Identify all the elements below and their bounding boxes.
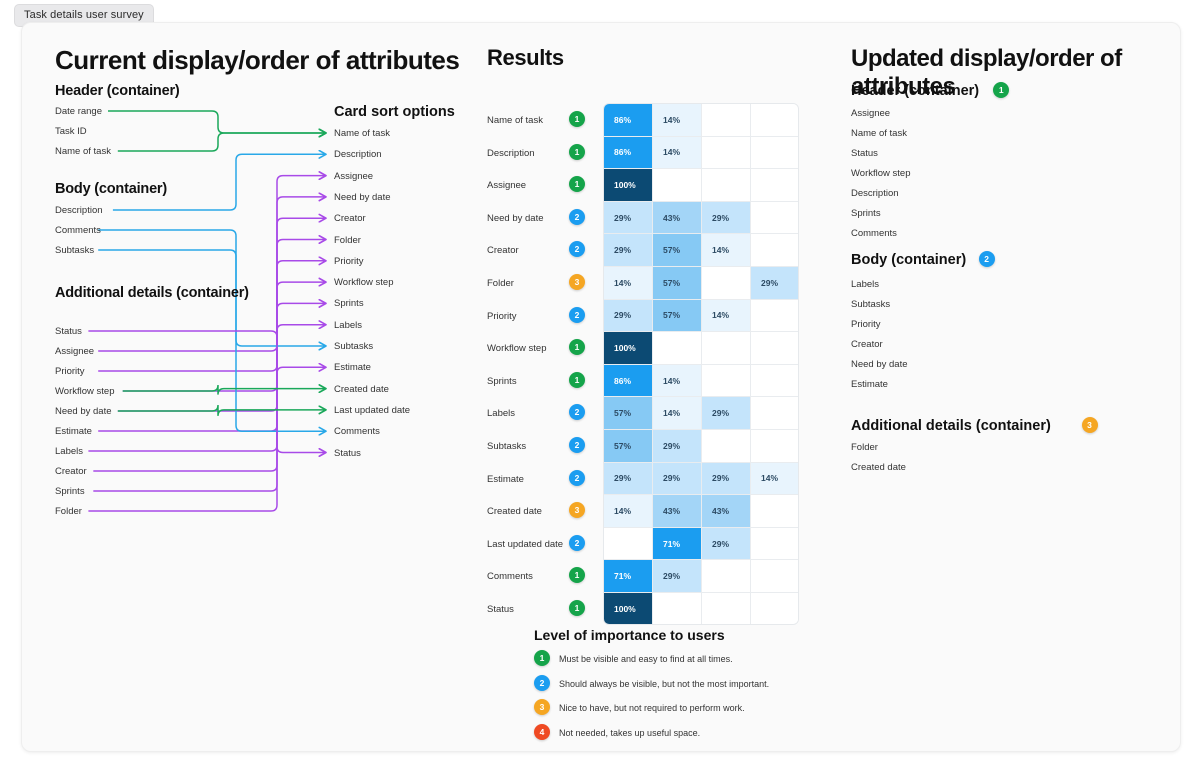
updated-group-badge: 3 [1082, 417, 1098, 433]
card-sort-option: Labels [334, 320, 362, 331]
heatmap-cell: 57% [653, 234, 702, 267]
heatmap-cell [751, 300, 799, 333]
heatmap-cell [702, 169, 751, 202]
heatmap-cell [702, 560, 751, 593]
priority-badge: 2 [569, 437, 585, 453]
result-row-label: Labels [487, 408, 515, 419]
heatmap-cell: 29% [604, 234, 653, 267]
card-sort-option: Creator [334, 213, 366, 224]
result-row-label: Assignee [487, 180, 526, 191]
page-title-results: Results [487, 45, 564, 71]
card-sort-option: Comments [334, 426, 380, 437]
updated-group-badge: 2 [979, 251, 995, 267]
priority-badge: 2 [569, 470, 585, 486]
priority-badge: 2 [569, 209, 585, 225]
updated-attribute-item: Description [851, 188, 899, 199]
legend-badge: 1 [534, 650, 550, 666]
result-row-label: Estimate [487, 474, 524, 485]
heatmap-cell [702, 104, 751, 137]
heatmap-cell: 29% [604, 202, 653, 235]
card-sort-option: Folder [334, 235, 361, 246]
attribute-item: Estimate [55, 426, 92, 437]
heatmap-cell: 43% [702, 495, 751, 528]
legend-badge: 2 [534, 675, 550, 691]
priority-badge: 1 [569, 339, 585, 355]
heatmap-cell [653, 169, 702, 202]
updated-attribute-item: Sprints [851, 208, 881, 219]
attribute-item: Assignee [55, 346, 94, 357]
priority-badge: 1 [569, 372, 585, 388]
updated-group-header-0: Header (container) [851, 83, 979, 99]
priority-badge: 2 [569, 241, 585, 257]
heatmap-cell: 14% [702, 234, 751, 267]
heatmap-cell [702, 137, 751, 170]
heatmap-cell: 57% [604, 397, 653, 430]
priority-badge: 1 [569, 176, 585, 192]
heatmap-cell: 14% [653, 397, 702, 430]
heatmap-cell [751, 365, 799, 398]
updated-order-panel: Updated display/order of attributes Head… [822, 23, 1181, 752]
result-row-label: Comments [487, 571, 533, 582]
heatmap-cell: 100% [604, 332, 653, 365]
result-row-label: Need by date [487, 213, 544, 224]
heatmap-cell [751, 137, 799, 170]
card-sort-option: Priority [334, 256, 364, 267]
result-row-label: Description [487, 148, 535, 159]
updated-attribute-item: Status [851, 148, 878, 159]
card-sort-option: Workflow step [334, 277, 393, 288]
heatmap-cell: 14% [653, 365, 702, 398]
result-row-label: Creator [487, 245, 519, 256]
heatmap-cell [751, 560, 799, 593]
survey-board: Current display/order of attributes Card… [21, 22, 1181, 752]
attribute-item: Creator [55, 466, 87, 477]
updated-group-header-1: Body (container) [851, 252, 966, 268]
heatmap-cell: 29% [702, 463, 751, 496]
result-row-label: Priority [487, 311, 517, 322]
heatmap-cell: 43% [653, 495, 702, 528]
result-row-label: Name of task [487, 115, 543, 126]
heatmap-cell [751, 495, 799, 528]
legend-title: Level of importance to users [534, 627, 725, 643]
priority-badge: 1 [569, 567, 585, 583]
heatmap-cell: 29% [604, 300, 653, 333]
updated-attribute-item: Folder [851, 442, 878, 453]
attribute-item: Comments [55, 225, 101, 236]
card-sort-option: Estimate [334, 362, 371, 373]
results-panel: Results Name of task1Description1Assigne… [462, 23, 822, 752]
updated-attribute-item: Labels [851, 279, 879, 290]
heatmap-cell: 29% [702, 202, 751, 235]
heatmap-cell: 14% [604, 495, 653, 528]
card-sort-option: Last updated date [334, 405, 410, 416]
legend-badge: 3 [534, 699, 550, 715]
updated-attribute-item: Need by date [851, 359, 908, 370]
priority-badge: 1 [569, 111, 585, 127]
priority-badge: 2 [569, 307, 585, 323]
heatmap-cell: 29% [653, 560, 702, 593]
attribute-item: Sprints [55, 486, 85, 497]
attribute-item: Folder [55, 506, 82, 517]
heatmap-cell: 100% [604, 169, 653, 202]
legend-text: Nice to have, but not required to perfor… [559, 703, 745, 713]
result-row-label: Folder [487, 278, 514, 289]
heatmap-cell: 14% [653, 137, 702, 170]
group-header-0: Header (container) [55, 83, 180, 99]
card-sort-option: Name of task [334, 128, 390, 139]
priority-badge: 1 [569, 144, 585, 160]
current-order-panel: Current display/order of attributes Card… [22, 23, 462, 752]
heatmap-cell [751, 332, 799, 365]
result-row-label: Sprints [487, 376, 517, 387]
group-header-1: Body (container) [55, 181, 167, 197]
heatmap-cell: 29% [653, 430, 702, 463]
result-row-label: Status [487, 604, 514, 615]
heatmap-cell [751, 593, 799, 625]
card-sort-option: Sprints [334, 298, 364, 309]
heatmap-cell: 57% [604, 430, 653, 463]
results-heatmap: 86%14%86%14%100%29%43%29%29%57%14%14%57%… [603, 103, 799, 625]
heatmap-cell: 71% [653, 528, 702, 561]
updated-attribute-item: Subtasks [851, 299, 890, 310]
heatmap-cell: 29% [702, 528, 751, 561]
card-sort-option: Need by date [334, 192, 391, 203]
heatmap-cell: 14% [653, 104, 702, 137]
result-row-label: Created date [487, 506, 542, 517]
heatmap-cell: 14% [604, 267, 653, 300]
updated-attribute-item: Estimate [851, 379, 888, 390]
card-sort-option: Assignee [334, 171, 373, 182]
heatmap-cell: 14% [702, 300, 751, 333]
attribute-item: Description [55, 205, 103, 216]
updated-attribute-item: Assignee [851, 108, 890, 119]
legend-text: Should always be visible, but not the mo… [559, 679, 769, 689]
result-row-label: Subtasks [487, 441, 526, 452]
attribute-item: Date range [55, 106, 102, 117]
updated-attribute-item: Priority [851, 319, 881, 330]
heatmap-cell: 71% [604, 560, 653, 593]
heatmap-cell: 57% [653, 267, 702, 300]
legend-text: Not needed, takes up useful space. [559, 728, 700, 738]
attribute-item: Task ID [55, 126, 87, 137]
heatmap-cell: 29% [604, 463, 653, 496]
heatmap-cell [702, 430, 751, 463]
heatmap-cell: 43% [653, 202, 702, 235]
heatmap-cell [702, 267, 751, 300]
priority-badge: 3 [569, 502, 585, 518]
heatmap-cell [702, 365, 751, 398]
heatmap-cell: 86% [604, 365, 653, 398]
attribute-item: Labels [55, 446, 83, 457]
attribute-item: Name of task [55, 146, 111, 157]
heatmap-cell [604, 528, 653, 561]
priority-badge: 2 [569, 535, 585, 551]
updated-attribute-item: Name of task [851, 128, 907, 139]
heatmap-cell: 29% [653, 463, 702, 496]
heatmap-cell: 29% [702, 397, 751, 430]
heatmap-cell: 29% [751, 267, 799, 300]
heatmap-cell: 57% [653, 300, 702, 333]
priority-badge: 2 [569, 404, 585, 420]
attribute-item: Subtasks [55, 245, 94, 256]
attribute-item: Priority [55, 366, 85, 377]
result-row-label: Workflow step [487, 343, 546, 354]
heatmap-cell: 100% [604, 593, 653, 625]
heatmap-cell [751, 528, 799, 561]
card-sort-option: Created date [334, 384, 389, 395]
heatmap-cell [751, 104, 799, 137]
legend-badge: 4 [534, 724, 550, 740]
heatmap-cell: 86% [604, 104, 653, 137]
card-sort-option: Status [334, 448, 361, 459]
heatmap-cell [702, 332, 751, 365]
attribute-item: Workflow step [55, 386, 114, 397]
priority-badge: 1 [569, 600, 585, 616]
updated-attribute-item: Creator [851, 339, 883, 350]
heatmap-cell [751, 430, 799, 463]
updated-attribute-item: Workflow step [851, 168, 910, 179]
heatmap-cell [751, 234, 799, 267]
attribute-item: Need by date [55, 406, 112, 417]
group-header-2: Additional details (container) [55, 285, 249, 301]
updated-attribute-item: Comments [851, 228, 897, 239]
legend-text: Must be visible and easy to find at all … [559, 654, 733, 664]
heatmap-cell [751, 397, 799, 430]
result-row-label: Last updated date [487, 539, 563, 550]
card-sort-option: Subtasks [334, 341, 373, 352]
updated-attribute-item: Created date [851, 462, 906, 473]
heatmap-cell [653, 593, 702, 625]
priority-badge: 3 [569, 274, 585, 290]
heatmap-cell [653, 332, 702, 365]
heatmap-cell [751, 169, 799, 202]
heatmap-cell [751, 202, 799, 235]
heatmap-cell [702, 593, 751, 625]
heatmap-cell: 14% [751, 463, 799, 496]
attribute-item: Status [55, 326, 82, 337]
heatmap-cell: 86% [604, 137, 653, 170]
updated-group-header-2: Additional details (container) [851, 418, 1051, 434]
card-sort-option: Description [334, 149, 382, 160]
